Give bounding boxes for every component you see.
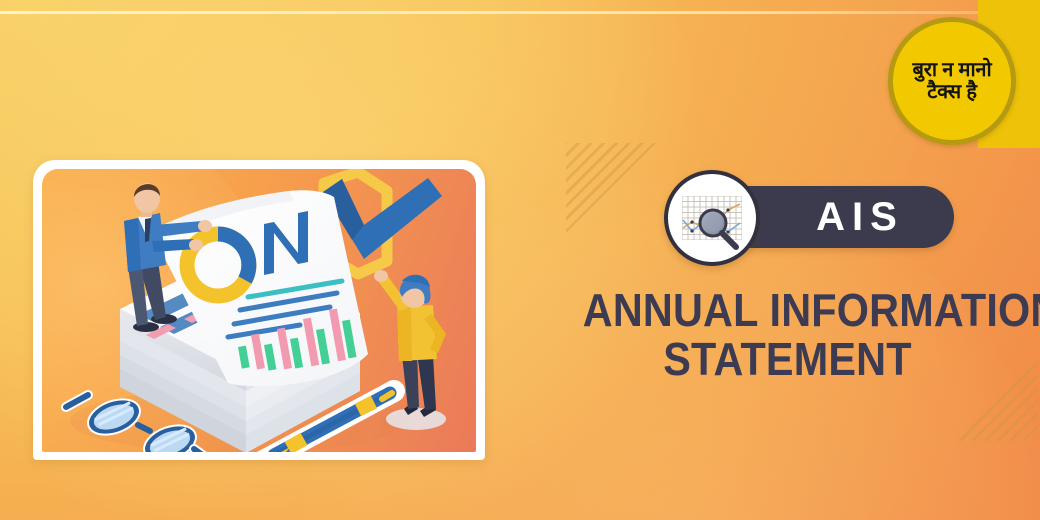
hindi-tagline-badge: बुरा न मानो टैक्स है bbox=[888, 17, 1016, 145]
banner-content-column: AIS bbox=[560, 170, 1020, 382]
ais-abbreviation: AIS bbox=[816, 197, 904, 237]
hindi-tagline-text: बुरा न मानो टैक्स है bbox=[908, 59, 995, 104]
banner-title: ANNUAL INFORMATION STATEMENT bbox=[560, 288, 1015, 382]
top-divider-rule bbox=[0, 11, 1040, 14]
illustration-card bbox=[33, 160, 485, 460]
chart-magnifier-icon bbox=[664, 170, 760, 266]
illustration-svg bbox=[42, 169, 476, 452]
banner-title-line-1: ANNUAL INFORMATION bbox=[583, 288, 993, 333]
hindi-tagline-line-2: टैक्स है bbox=[927, 81, 977, 103]
ais-logo-lockup: AIS bbox=[664, 170, 954, 266]
hindi-tagline-line-1: बुरा न मानो bbox=[912, 59, 991, 81]
banner-title-line-2: STATEMENT bbox=[583, 337, 993, 382]
chart-magnifier-svg bbox=[670, 176, 754, 260]
ais-banner: बुरा न मानो टैक्स है bbox=[0, 0, 1040, 520]
illustration-scene bbox=[42, 169, 476, 452]
